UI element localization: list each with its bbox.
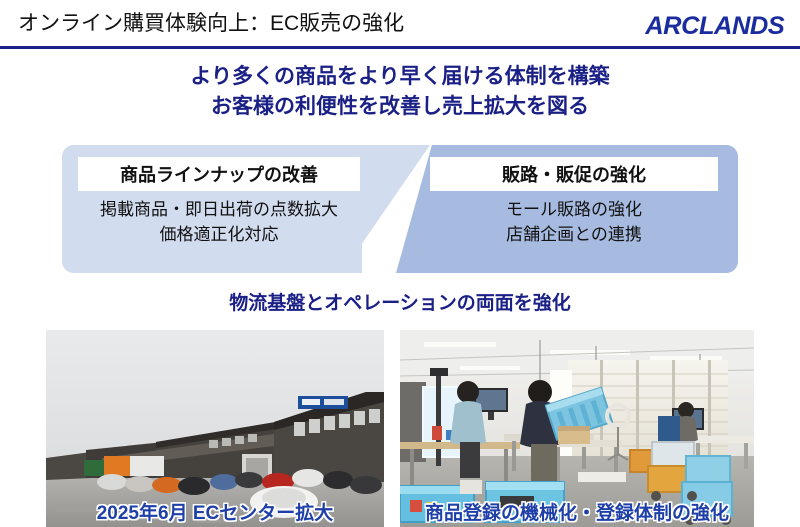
panel-right-heading: 販路・販促の強化 (430, 157, 718, 191)
header-divider (0, 46, 800, 49)
panel-right-body: モール販路の強化 店舗企画との連携 (430, 197, 718, 247)
photo-registration-room: 商品登録の機械化・登録体制の強化 (400, 330, 754, 527)
panel-left-heading: 商品ラインナップの改善 (78, 157, 360, 191)
subtitle-line-1: より多くの商品をより早く届ける体制を構築 (0, 62, 800, 92)
strategy-panels: 商品ラインナップの改善 掲載商品・即日出荷の点数拡大 価格適正化対応 販路・販促… (62, 145, 738, 273)
photo-registration-room-caption: 商品登録の機械化・登録体制の強化 (400, 498, 754, 525)
panel-right-body-line-2: 店舗企画との連携 (430, 222, 718, 247)
photo-ec-center: 2025年6月 ECセンター拡大 (46, 330, 384, 527)
arclands-logo: ARCLANDS (645, 12, 784, 40)
panel-left-body-line-2: 価格適正化対応 (78, 222, 360, 247)
subtitle-line-2: お客様の利便性を改善し売上拡大を図る (0, 92, 800, 122)
page-title: オンライン購買体験向上：EC販売の強化 (18, 10, 404, 38)
panel-right-body-line-1: モール販路の強化 (430, 197, 718, 222)
panel-left-body: 掲載商品・即日出荷の点数拡大 価格適正化対応 (78, 197, 360, 247)
panel-left-body-line-1: 掲載商品・即日出荷の点数拡大 (78, 197, 360, 222)
photo-ec-center-caption: 2025年6月 ECセンター拡大 (46, 498, 384, 525)
logistics-caption: 物流基盤とオペレーションの両面を強化 (0, 291, 800, 317)
slide-header: オンライン購買体験向上：EC販売の強化 ARCLANDS (0, 0, 800, 50)
subtitle-block: より多くの商品をより早く届ける体制を構築 お客様の利便性を改善し売上拡大を図る (0, 62, 800, 122)
